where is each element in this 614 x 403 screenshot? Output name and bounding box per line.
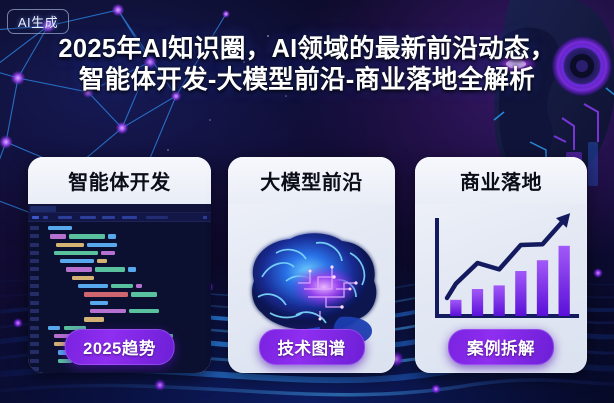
chart-bar: [537, 260, 548, 316]
card-large-model-frontier-button[interactable]: 技术图谱: [259, 329, 365, 365]
ai-generated-badge: AI生成: [7, 9, 69, 34]
chart-bar: [450, 300, 461, 316]
ai-generated-badge-label: AI生成: [18, 12, 58, 31]
card-agent-development-button[interactable]: 2025趋势: [64, 329, 175, 365]
chart-bar: [494, 285, 505, 316]
card-business-landing-button[interactable]: 案例拆解: [448, 329, 554, 365]
card-agent-development[interactable]: 智能体开发: [28, 157, 211, 373]
page-title-line-2: 智能体开发-大模型前沿-商业落地全解析: [16, 65, 598, 96]
chart-bar: [472, 289, 483, 316]
card-business-landing-header: 商业落地: [415, 157, 587, 204]
chart-bar: [559, 246, 570, 316]
card-large-model-frontier-header: 大模型前沿: [228, 157, 395, 204]
card-business-landing[interactable]: 商业落地 案例拆解: [415, 157, 587, 373]
card-agent-development-header: 智能体开发: [28, 157, 211, 204]
chart-bar: [515, 271, 526, 316]
card-large-model-frontier[interactable]: 大模型前沿: [228, 157, 395, 373]
page-title-line-1: 2025年AI知识圈，AI领域的最新前沿动态，: [58, 35, 555, 63]
page-title: 2025年AI知识圈，AI领域的最新前沿动态， 智能体开发-大模型前沿-商业落地…: [0, 34, 614, 96]
card-agent-development-body: 2025趋势: [28, 204, 211, 373]
poster-canvas: AI生成 2025年AI知识圈，AI领域的最新前沿动态， 智能体开发-大模型前沿…: [0, 0, 614, 403]
card-large-model-frontier-body: 技术图谱: [228, 204, 395, 373]
card-business-landing-body: 案例拆解: [415, 204, 587, 373]
card-group: 智能体开发: [0, 157, 614, 373]
